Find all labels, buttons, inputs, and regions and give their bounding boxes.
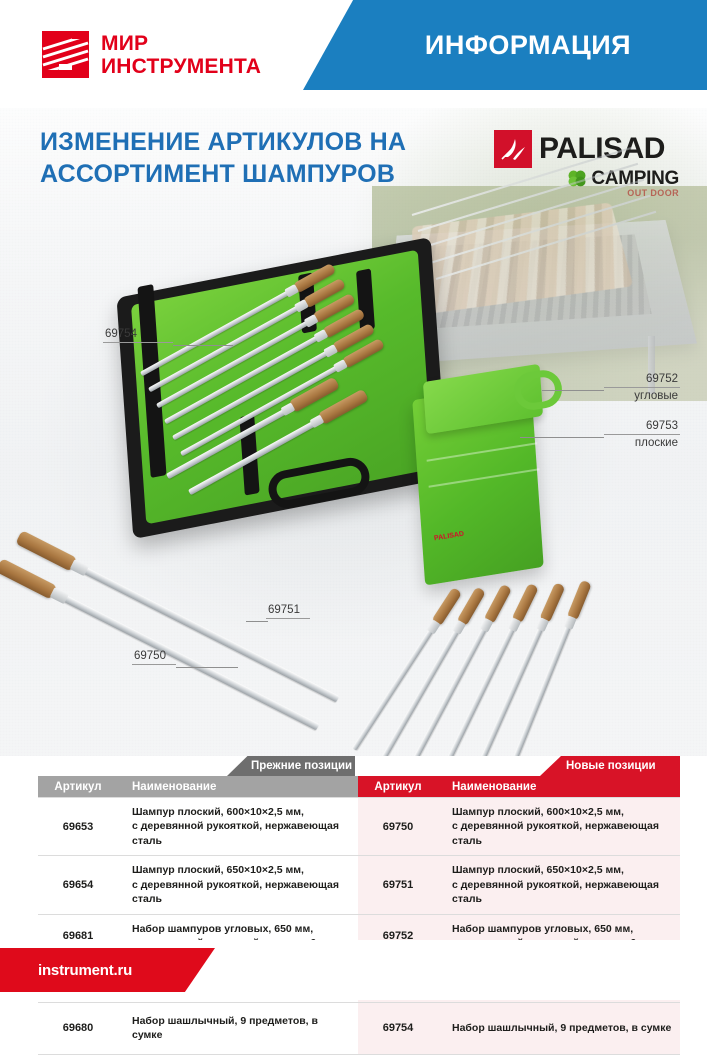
callout-69751-code: 69751: [266, 604, 310, 618]
table-cell-new: 69754 Набор шашлычный, 9 предметов, в су…: [358, 1003, 680, 1054]
callout-69752-caption: угловые: [604, 388, 680, 404]
logo-line-2: ИНСТРУМЕНТА: [101, 56, 261, 77]
new-name: Набор шашлычный, 9 предметов, в сумке: [438, 1010, 679, 1046]
company-logo-text: МИР ИНСТРУМЕНТА: [101, 33, 261, 77]
table-row: 69680 Набор шашлычный, 9 предметов, в су…: [38, 1003, 680, 1055]
callout-69753-leader: [520, 437, 604, 438]
callout-69750-code: 69750: [132, 650, 176, 664]
table-header-new: Артикул Наименование: [358, 776, 680, 797]
table-body: 69653 Шампур плоский, 600×10×2,5 мм, с д…: [38, 797, 680, 1055]
callout-69753: 69753 плоские: [604, 420, 680, 451]
old-name-line1: Набор шашлычный, 9 предметов, в сумке: [132, 1014, 350, 1043]
new-name: Шампур плоский, 650×10×2,5 мм, с деревян…: [438, 856, 680, 913]
col-header-new-name: Наименование: [438, 781, 536, 793]
old-name-line2: с деревянной рукояткой, нержавеющая стал…: [132, 819, 350, 848]
old-name-line1: Набор шампуров угловых, 650 мм,: [132, 922, 335, 936]
page-footer: instrument.ru: [0, 940, 707, 1000]
page-header: ИНФОРМАЦИЯ МИР ИНСТРУМЕНТА: [0, 0, 707, 108]
col-header-new-article: Артикул: [358, 781, 438, 793]
table-row: 69653 Шампур плоский, 600×10×2,5 мм, с д…: [38, 797, 680, 856]
new-name-line1: Шампур плоский, 600×10×2,5 мм,: [452, 805, 672, 819]
article-change-table: Прежние позиции Новые позиции Артикул На…: [0, 756, 707, 936]
old-article: 69653: [38, 821, 118, 833]
product-photo-composition: PALISAD: [0, 108, 707, 756]
table-cell-old: 69654 Шампур плоский, 650×10×2,5 мм, с д…: [38, 856, 358, 913]
footer-website-link[interactable]: instrument.ru: [38, 948, 132, 992]
logo-line-1: МИР: [101, 33, 261, 54]
new-name-line1: Шампур плоский, 650×10×2,5 мм,: [452, 863, 672, 877]
new-name-line1: Набор шампуров угловых, 650 мм,: [452, 922, 655, 936]
tab-new-positions: Новые позиции: [540, 756, 680, 776]
table-cell-old: 69653 Шампур плоский, 600×10×2,5 мм, с д…: [38, 798, 358, 855]
callout-69751-rule: [266, 618, 310, 619]
callout-69754-leader: [173, 345, 233, 346]
old-name-line1: Шампур плоский, 650×10×2,5 мм,: [132, 863, 350, 877]
old-name: Шампур плоский, 650×10×2,5 мм, с деревян…: [118, 856, 358, 913]
callout-69751-leader: [246, 621, 268, 622]
table-cell-old: 69680 Набор шашлычный, 9 предметов, в су…: [38, 1003, 358, 1054]
callout-69754-code: 69754: [103, 328, 173, 342]
new-name: Шампур плоский, 600×10×2,5 мм, с деревян…: [438, 798, 680, 855]
hero-section: ИЗМЕНЕНИЕ АРТИКУЛОВ НА АССОРТИМЕНТ ШАМПУ…: [0, 108, 707, 756]
callout-69751: 69751: [266, 604, 310, 619]
old-name-line2: с деревянной рукояткой, нержавеющая стал…: [132, 878, 350, 907]
callout-69750-rule: [132, 664, 176, 665]
old-name: Набор шашлычный, 9 предметов, в сумке: [118, 1003, 358, 1054]
skewer-set-bag-photo: [122, 268, 442, 508]
callout-69754-rule: [103, 342, 173, 343]
old-name: Шампур плоский, 600×10×2,5 мм, с деревян…: [118, 798, 358, 855]
callout-69752-leader: [542, 390, 604, 391]
company-logo: МИР ИНСТРУМЕНТА: [40, 29, 261, 80]
tab-old-positions: Прежние позиции: [227, 756, 355, 776]
old-article: 69654: [38, 879, 118, 891]
table-cell-new: 69751 Шампур плоский, 650×10×2,5 мм, с д…: [358, 856, 680, 913]
old-article: 69680: [38, 1022, 118, 1034]
mir-instrumenta-logo-icon: [40, 29, 91, 80]
callout-69750: 69750: [132, 650, 176, 665]
callout-69753-caption: плоские: [604, 435, 680, 451]
callout-69753-code: 69753: [604, 420, 680, 434]
callout-69750-leader: [176, 667, 238, 668]
new-name-line2: с деревянной рукояткой, нержавеющая стал…: [452, 878, 672, 907]
new-article: 69751: [358, 879, 438, 891]
table-cell-new: 69750 Шампур плоский, 600×10×2,5 мм, с д…: [358, 798, 680, 855]
col-header-old-article: Артикул: [38, 781, 118, 793]
table-header-old: Артикул Наименование: [38, 776, 358, 797]
information-banner-label: ИНФОРМАЦИЯ: [303, 0, 707, 90]
new-name-line1: Набор шашлычный, 9 предметов, в сумке: [452, 1021, 671, 1035]
callout-69752-code: 69752: [604, 373, 680, 387]
callout-69752: 69752 угловые: [604, 373, 680, 404]
new-article: 69750: [358, 821, 438, 833]
callout-69754: 69754: [103, 328, 173, 343]
new-name-line2: с деревянной рукояткой, нержавеющая стал…: [452, 819, 672, 848]
skewer-case-photo: PALISAD: [418, 373, 554, 578]
new-article: 69754: [358, 1022, 438, 1034]
table-row: 69654 Шампур плоский, 650×10×2,5 мм, с д…: [38, 856, 680, 914]
col-header-old-name: Наименование: [118, 781, 216, 793]
old-name-line1: Шампур плоский, 600×10×2,5 мм,: [132, 805, 350, 819]
